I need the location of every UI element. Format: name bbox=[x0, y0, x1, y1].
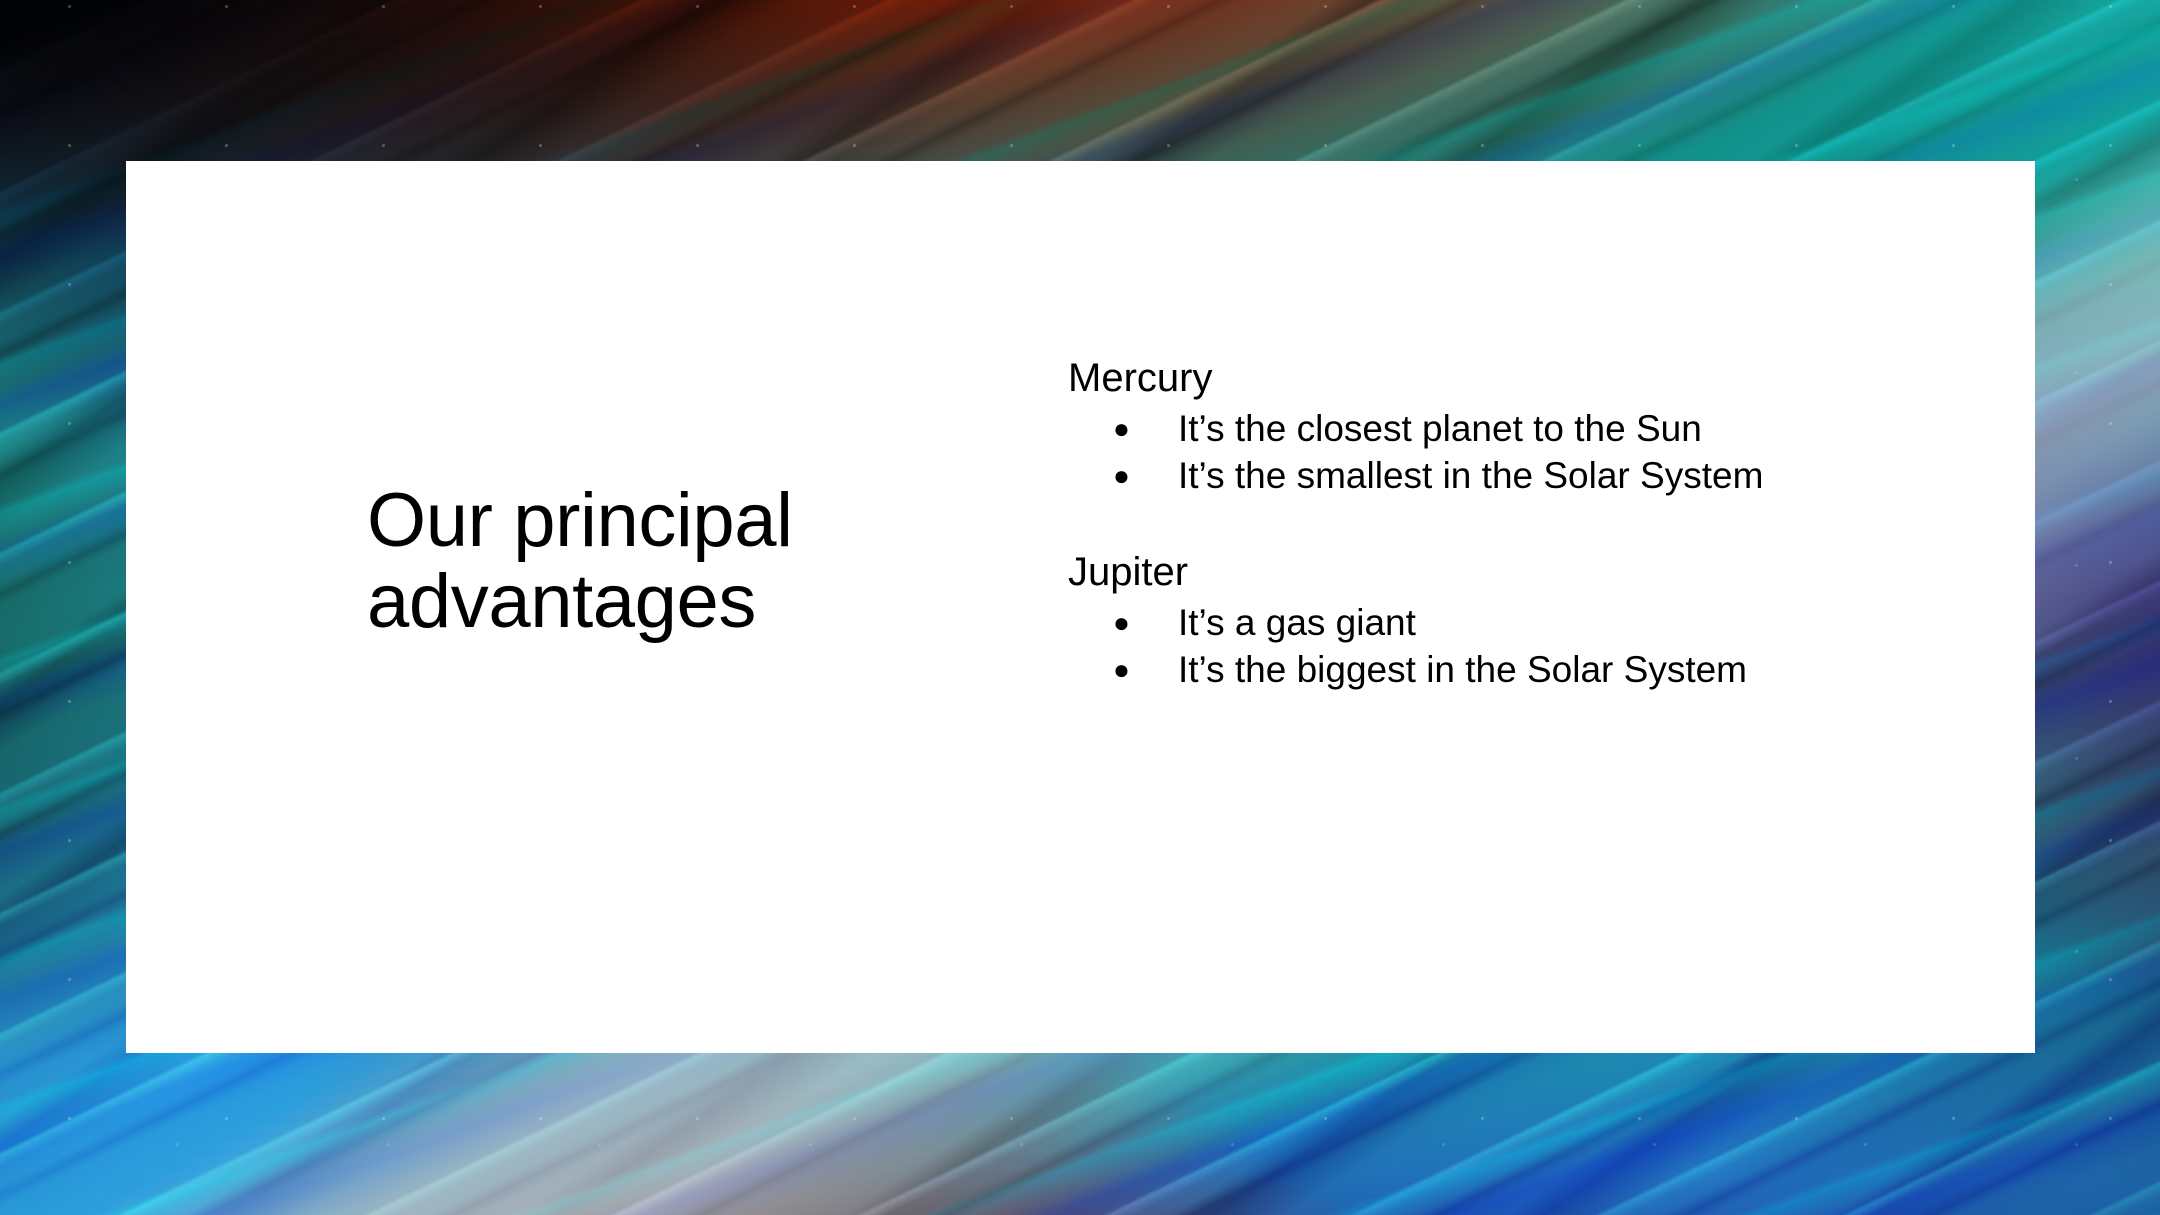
presentation-slide: Our principal advantages Mercury ● It’s … bbox=[0, 0, 2160, 1215]
planet-heading-jupiter: Jupiter bbox=[1068, 549, 1868, 596]
bullet-dot-icon: ● bbox=[1113, 649, 1130, 692]
list-item-text: It’s the closest planet to the Sun bbox=[1178, 408, 1702, 449]
bullet-list-mercury: ● It’s the closest planet to the Sun ● I… bbox=[1068, 408, 1868, 497]
planet-section-jupiter: Jupiter ● It’s a gas giant ● It’s the bi… bbox=[1068, 549, 1868, 691]
list-item: ● It’s a gas giant bbox=[1068, 602, 1868, 645]
bullet-dot-icon: ● bbox=[1113, 602, 1130, 645]
planets-column: Mercury ● It’s the closest planet to the… bbox=[1068, 355, 1868, 696]
bullet-dot-icon: ● bbox=[1113, 455, 1130, 498]
list-item: ● It’s the biggest in the Solar System bbox=[1068, 649, 1868, 692]
title-column: Our principal advantages bbox=[367, 481, 927, 642]
list-item: ● It’s the closest planet to the Sun bbox=[1068, 408, 1868, 451]
planet-section-mercury: Mercury ● It’s the closest planet to the… bbox=[1068, 355, 1868, 497]
list-item-text: It’s the smallest in the Solar System bbox=[1178, 455, 1763, 496]
list-item-text: It’s the biggest in the Solar System bbox=[1178, 649, 1747, 690]
slide-title: Our principal advantages bbox=[367, 481, 927, 642]
list-item-text: It’s a gas giant bbox=[1178, 602, 1416, 643]
content-card: Our principal advantages Mercury ● It’s … bbox=[126, 161, 2035, 1053]
planet-heading-mercury: Mercury bbox=[1068, 355, 1868, 402]
list-item: ● It’s the smallest in the Solar System bbox=[1068, 455, 1868, 498]
bullet-dot-icon: ● bbox=[1113, 408, 1130, 451]
bullet-list-jupiter: ● It’s a gas giant ● It’s the biggest in… bbox=[1068, 602, 1868, 691]
